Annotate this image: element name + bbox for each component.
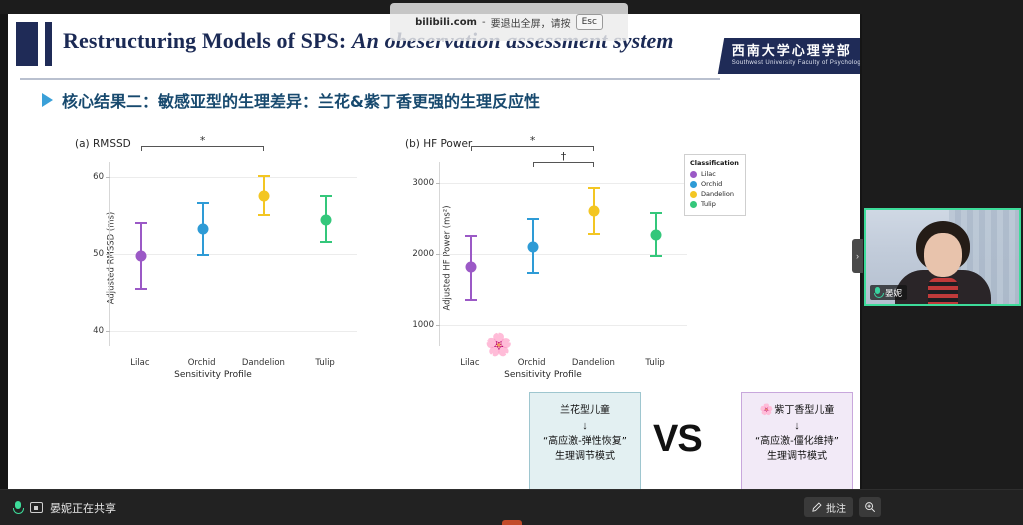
slide-title-main: Restructuring Models of SPS: <box>63 28 346 53</box>
chart-data-point-lilac <box>465 262 476 273</box>
share-status: 晏妮正在共享 <box>12 500 116 516</box>
down-arrow-icon: ↓ <box>536 420 634 432</box>
chart-error-bar-part <box>197 202 209 204</box>
legend-label: Lilac <box>701 170 716 178</box>
toast-separator: - <box>482 17 486 28</box>
chart-gridline <box>440 325 687 326</box>
legend-row: Lilac <box>690 170 740 178</box>
chart-hf-power-xlabel: Sensitivity Profile <box>393 370 693 380</box>
chart-error-bar-part <box>527 272 539 274</box>
chart-error-bar-part <box>197 254 209 256</box>
chart-hf-power-title: (b) HF Power <box>405 138 472 150</box>
chart-gridline <box>110 331 357 332</box>
chart-error-bar-part <box>650 212 662 214</box>
bracket-part <box>141 146 142 151</box>
logo-chinese-text: 西南大学心理学部 <box>732 40 860 59</box>
chart-error-bar-part <box>135 288 147 290</box>
chart-data-point-dandelion <box>259 190 270 201</box>
magnifier-plus-icon <box>864 501 876 513</box>
legend-title: Classification <box>690 159 740 167</box>
chart-data-point-tulip <box>651 229 662 240</box>
shared-content-area[interactable]: Restructuring Models of SPS: An obeserva… <box>8 14 860 489</box>
chart-tick-mark <box>436 183 440 184</box>
comparison-right-heading-text: 紫丁香型儿童 <box>774 405 834 416</box>
chart-data-point-orchid <box>527 241 538 252</box>
fullscreen-exit-toast: bilibili.com - 要退出全屏，请按 Esc <box>390 3 628 41</box>
lilac-flower-icon: 🌸 <box>760 403 774 416</box>
screen-share-icon <box>30 502 43 513</box>
section-heading-text: 核心结果二：敏感亚型的生理差异：兰花&紫丁香更强的生理反应性 <box>62 88 540 112</box>
lilac-flower-icon: 🌸 <box>485 334 512 356</box>
chart-x-tick-label: Tulip <box>315 358 334 368</box>
chart-error-bar-part <box>650 255 662 257</box>
pen-icon <box>811 502 822 513</box>
video-person-face <box>924 233 962 277</box>
video-person-shirt <box>928 278 958 304</box>
significance-symbol: * <box>530 135 536 146</box>
chart-error-bar-part <box>588 187 600 189</box>
significance-symbol: † <box>561 151 567 162</box>
video-rail: 晏妮 <box>862 14 1023 489</box>
legend-row: Orchid <box>690 180 740 188</box>
esc-key-badge: Esc <box>576 14 603 30</box>
chart-rmssd-plot: 405060* <box>109 162 357 346</box>
section-heading: 核心结果二：敏感亚型的生理差异：兰花&紫丁香更强的生理反应性 <box>42 88 540 112</box>
chart-x-tick-label: Orchid <box>518 358 546 368</box>
toast-message: 要退出全屏，请按 <box>491 15 571 30</box>
bracket-part <box>533 162 534 167</box>
legend-swatch-tulip <box>690 201 697 208</box>
bottom-bar-actions: 批注 <box>804 497 881 517</box>
legend-label: Tulip <box>701 200 716 208</box>
chart-tick-mark <box>106 331 110 332</box>
legend-swatch-lilac <box>690 171 697 178</box>
chart-error-bar-part <box>135 222 147 224</box>
chart-y-tick-label: 2000 <box>412 249 434 259</box>
chart-data-point-orchid <box>197 224 208 235</box>
chart-gridline <box>110 177 357 178</box>
chart-y-tick-label: 60 <box>93 172 104 182</box>
comparison-box-lilac: 🌸紫丁香型儿童 ↓ “高应激-僵化维持” 生理调节模式 <box>741 392 853 489</box>
chart-x-tick-label: Dandelion <box>572 358 615 368</box>
chart-legend: Classification LilacOrchidDandelionTulip <box>684 154 746 216</box>
participant-name-badge: 晏妮 <box>870 285 907 300</box>
bracket-part <box>593 162 594 167</box>
down-arrow-icon: ↓ <box>748 420 846 432</box>
chart-y-tick-label: 50 <box>93 249 104 259</box>
meeting-bottom-bar: 晏妮正在共享 批注 <box>0 489 1023 525</box>
chart-error-bar-part <box>258 214 270 216</box>
annotate-button[interactable]: 批注 <box>804 497 853 517</box>
chart-error-bar-part <box>465 235 477 237</box>
university-logo: 西南大学心理学部 Southwest University Faculty of… <box>718 38 860 74</box>
chart-error-bar-part <box>320 241 332 243</box>
chart-tick-mark <box>106 254 110 255</box>
legend-swatch-dandelion <box>690 191 697 198</box>
comparison-left-line1: “高应激-弹性恢复” <box>536 435 634 450</box>
legend-label: Orchid <box>701 180 722 188</box>
bracket-part <box>593 146 594 151</box>
bracket-part <box>471 146 472 151</box>
chart-data-point-tulip <box>321 215 332 226</box>
chart-error-bar-part <box>465 299 477 301</box>
chart-x-tick-label: Dandelion <box>242 358 285 368</box>
chart-data-point-dandelion <box>589 205 600 216</box>
collapse-video-rail-handle[interactable]: › <box>852 239 863 273</box>
chart-x-tick-label: Lilac <box>460 358 479 368</box>
chart-tick-mark <box>106 177 110 178</box>
comparison-left-line2: 生理调节模式 <box>536 450 634 465</box>
chart-x-tick-label: Lilac <box>130 358 149 368</box>
chart-hf-power: (b) HF Power Adjusted HF Power (ms²) 100… <box>393 134 693 382</box>
toast-brand: bilibili.com <box>415 17 477 28</box>
comparison-right-line1: “高应激-僵化维持” <box>748 435 846 450</box>
chart-y-tick-label: 1000 <box>412 320 434 330</box>
legend-row: Tulip <box>690 200 740 208</box>
chart-gridline <box>440 183 687 184</box>
participant-name: 晏妮 <box>885 287 902 299</box>
chart-error-bar-part <box>258 175 270 177</box>
chart-error-bar-part <box>588 233 600 235</box>
annotate-label: 批注 <box>826 500 846 515</box>
logo-english-text: Southwest University Faculty of Psycholo… <box>732 60 860 66</box>
comparison-right-line2: 生理调节模式 <box>748 450 846 465</box>
chart-y-tick-label: 3000 <box>412 178 434 188</box>
chart-hf-power-plot: 100020003000*† <box>439 162 687 346</box>
legend-swatch-orchid <box>690 181 697 188</box>
chart-y-tick-label: 40 <box>93 326 104 336</box>
share-status-text: 晏妮正在共享 <box>50 500 116 516</box>
microphone-icon <box>12 501 23 515</box>
bottom-indicator <box>502 520 522 525</box>
bracket-part <box>263 146 264 151</box>
chart-tick-mark <box>436 325 440 326</box>
screen-share-window: Restructuring Models of SPS: An obeserva… <box>0 0 1023 525</box>
legend-row: Dandelion <box>690 190 740 198</box>
chart-error-bar-part <box>527 218 539 220</box>
chart-rmssd: (a) RMSSD Adjusted RMSSD (ms) 405060* Se… <box>63 134 363 382</box>
chart-tick-mark <box>436 254 440 255</box>
chart-x-tick-label: Orchid <box>188 358 216 368</box>
significance-symbol: * <box>200 135 206 146</box>
title-divider <box>20 78 720 80</box>
presentation-slide: Restructuring Models of SPS: An obeserva… <box>8 14 860 489</box>
title-accent-bar <box>16 22 52 66</box>
chevron-right-icon: › <box>856 251 859 261</box>
chart-rmssd-xlabel: Sensitivity Profile <box>63 370 363 380</box>
comparison-box-orchid: 兰花型儿童 ↓ “高应激-弹性恢复” 生理调节模式 <box>529 392 641 489</box>
chart-error-bar-part <box>320 195 332 197</box>
chart-rmssd-title: (a) RMSSD <box>75 138 131 150</box>
vs-label: VS <box>653 418 702 461</box>
chart-gridline <box>110 254 357 255</box>
chart-data-point-lilac <box>135 250 146 261</box>
zoom-button[interactable] <box>859 497 881 517</box>
comparison-right-heading: 🌸紫丁香型儿童 <box>748 401 846 416</box>
comparison-left-heading: 兰花型儿童 <box>536 401 634 416</box>
triangle-right-icon <box>42 93 53 107</box>
chart-x-tick-label: Tulip <box>645 358 664 368</box>
participant-video-tile[interactable]: 晏妮 <box>864 208 1021 306</box>
legend-label: Dandelion <box>701 190 734 198</box>
microphone-active-icon <box>873 287 882 298</box>
